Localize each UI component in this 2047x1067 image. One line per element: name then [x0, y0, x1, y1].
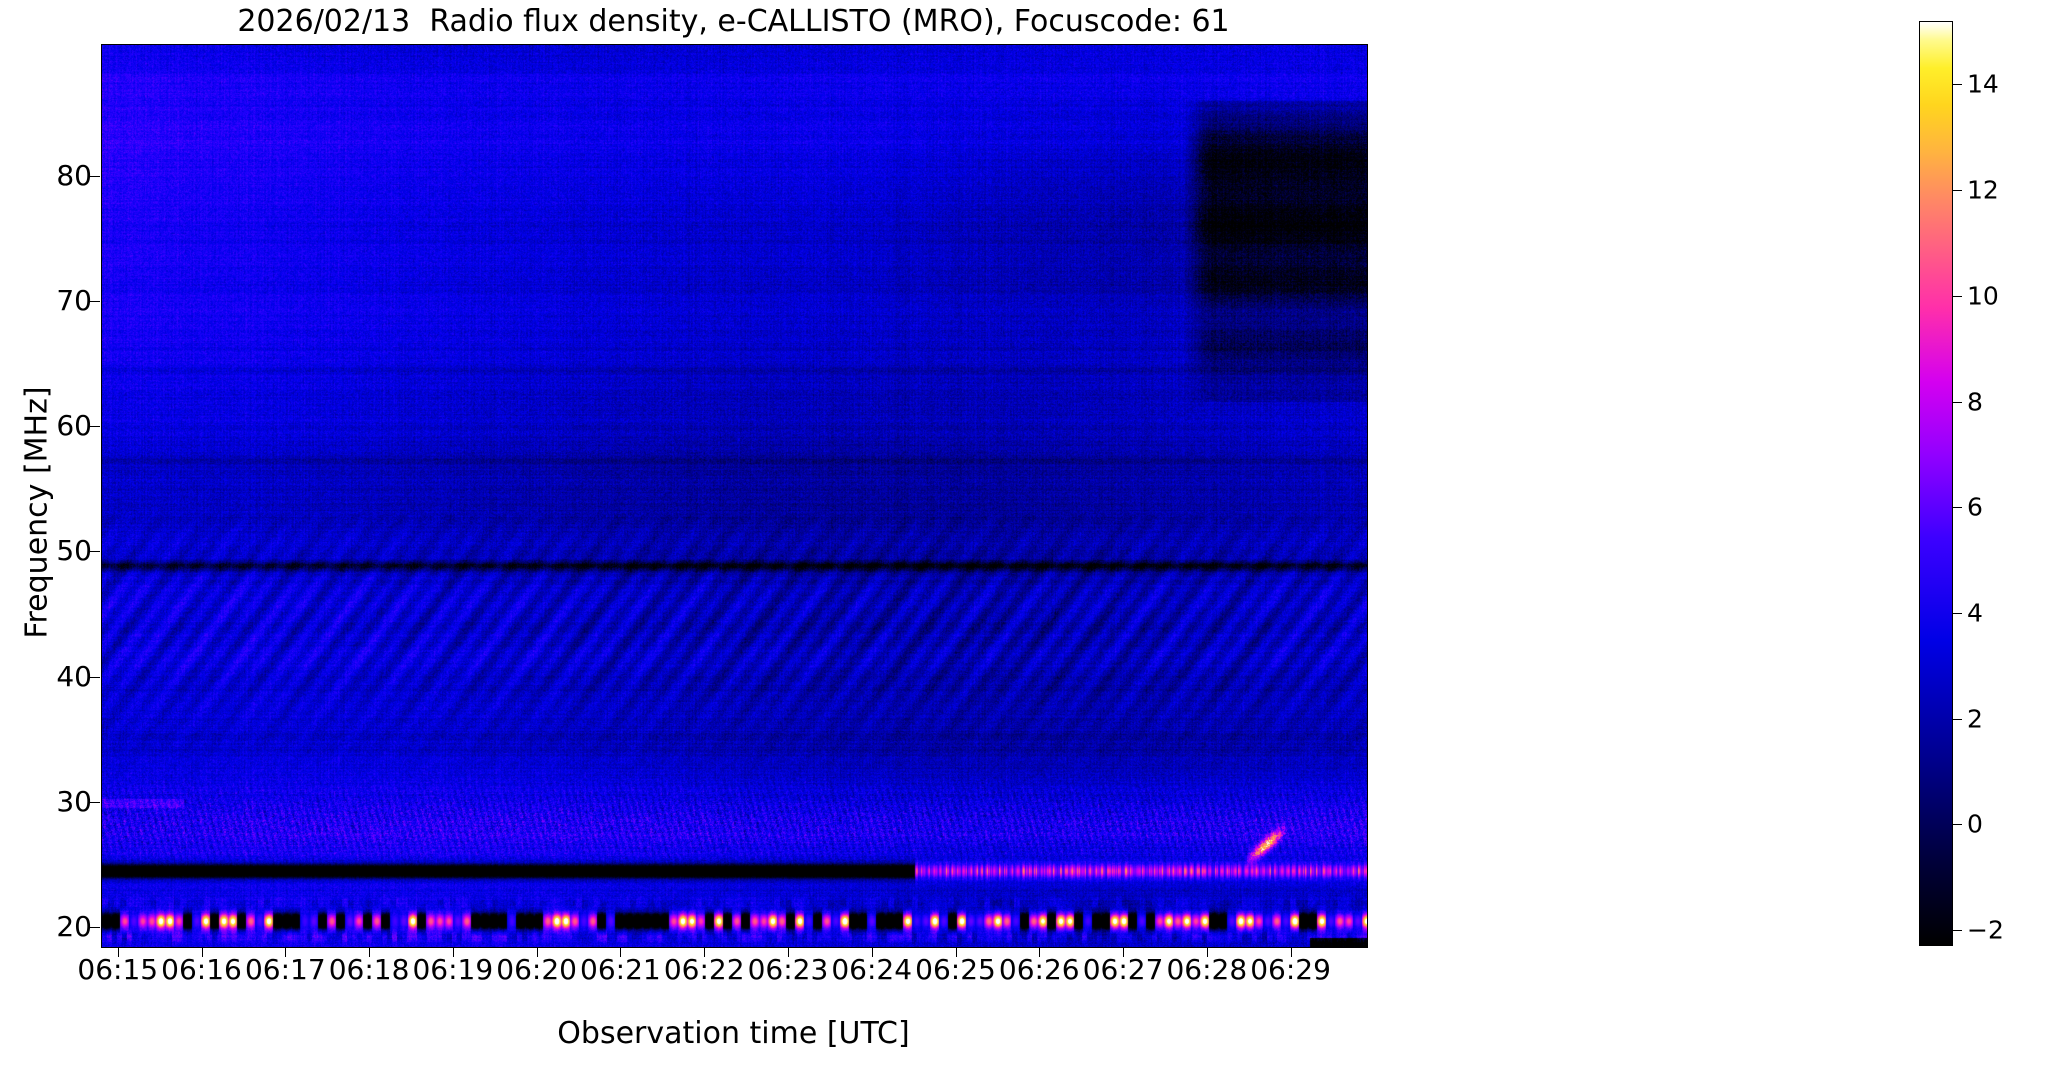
colorbar-tick-label: 6 — [1967, 495, 1983, 520]
x-tick-label: 06:15 — [77, 955, 158, 985]
colorbar[interactable]: 14121086420−2 — [1919, 21, 1953, 946]
x-tick-label: 06:24 — [831, 955, 912, 985]
colorbar-tick-mark — [1953, 84, 1962, 85]
y-tick-label: 40 — [56, 663, 92, 691]
colorbar-tick-mark — [1953, 190, 1962, 191]
colorbar-tick-mark — [1953, 930, 1962, 931]
x-tick-label: 06:22 — [664, 955, 745, 985]
x-tick-label: 06:26 — [999, 955, 1080, 985]
x-tick-label: 06:29 — [1250, 955, 1331, 985]
x-tick-label: 06:23 — [748, 955, 829, 985]
x-tick-label: 06:16 — [161, 955, 242, 985]
y-axis-label: Frequency [MHz] — [20, 233, 55, 793]
x-axis-label: Observation time [UTC] — [101, 1016, 1366, 1051]
x-tick-label: 06:17 — [245, 955, 326, 985]
colorbar-tick-mark — [1953, 719, 1962, 720]
x-tick-label: 06:27 — [1083, 955, 1164, 985]
colorbar-tick-label: 0 — [1967, 812, 1983, 837]
y-tick-label: 50 — [56, 537, 92, 565]
spectrogram-axes[interactable] — [101, 44, 1368, 948]
spectrogram-image — [102, 45, 1367, 947]
y-tick-label: 70 — [56, 287, 92, 315]
colorbar-tick-label: 10 — [1967, 283, 1999, 308]
x-tick-label: 06:25 — [915, 955, 996, 985]
x-tick-label: 06:20 — [496, 955, 577, 985]
colorbar-tick-label: 12 — [1967, 178, 1999, 203]
spectrogram-figure: 2026/02/13 Radio flux density, e-CALLIST… — [0, 0, 2047, 1067]
colorbar-tick-mark — [1953, 613, 1962, 614]
y-tick-label: 80 — [56, 162, 92, 190]
y-tick-label: 20 — [56, 913, 92, 941]
x-tick-label: 06:21 — [580, 955, 661, 985]
page-title: 2026/02/13 Radio flux density, e-CALLIST… — [101, 4, 1366, 40]
colorbar-tick-label: 4 — [1967, 601, 1983, 626]
colorbar-tick-label: 2 — [1967, 706, 1983, 731]
colorbar-tick-mark — [1953, 507, 1962, 508]
colorbar-gradient — [1919, 21, 1953, 946]
colorbar-tick-mark — [1953, 296, 1962, 297]
colorbar-tick-label: 14 — [1967, 72, 1999, 97]
colorbar-tick-mark — [1953, 824, 1962, 825]
x-tick-label: 06:28 — [1166, 955, 1247, 985]
colorbar-tick-label: 8 — [1967, 389, 1983, 414]
y-tick-label: 60 — [56, 412, 92, 440]
x-tick-label: 06:18 — [329, 955, 410, 985]
colorbar-tick-mark — [1953, 402, 1962, 403]
y-tick-label: 30 — [56, 788, 92, 816]
x-tick-label: 06:19 — [412, 955, 493, 985]
colorbar-tick-label: −2 — [1967, 918, 2004, 943]
